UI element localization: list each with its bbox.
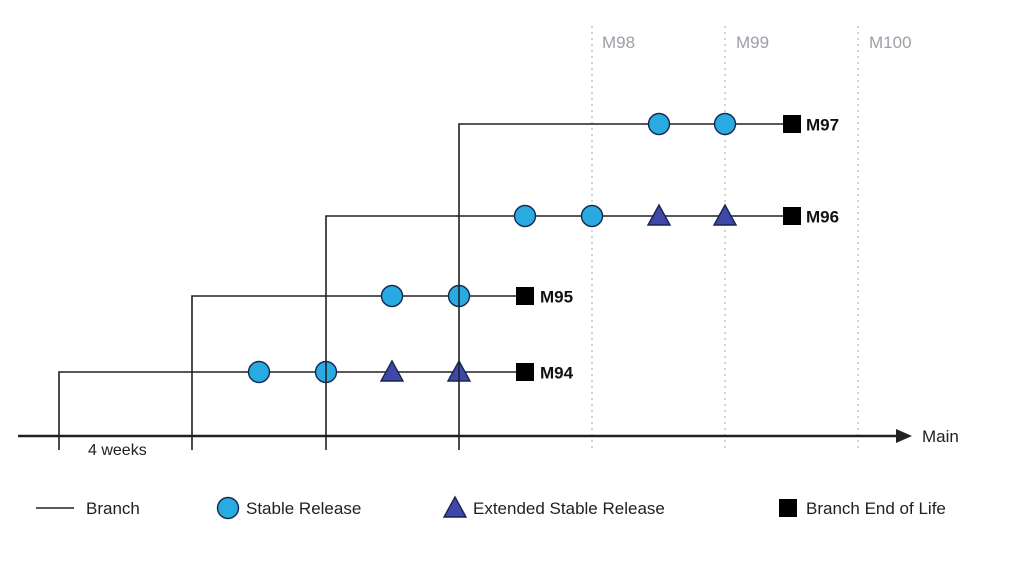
extended-stable-release-marker[interactable] — [381, 361, 403, 381]
legend-item[interactable]: Stable Release — [218, 498, 362, 519]
branch-label: M96 — [806, 208, 839, 227]
branch-end-of-life-marker[interactable] — [516, 363, 534, 381]
milestone-future-label: M99 — [736, 33, 769, 52]
branch-label: M97 — [806, 116, 839, 135]
extended-stable-release-marker[interactable] — [714, 205, 736, 225]
branch-end-of-life-marker[interactable] — [516, 287, 534, 305]
future-milestone-guides: M98M99M100 — [592, 26, 912, 452]
extended-stable-release-marker[interactable] — [648, 205, 670, 225]
square-icon[interactable] — [779, 499, 797, 517]
branch-line — [192, 296, 525, 450]
legend-label: Extended Stable Release — [473, 499, 665, 518]
milestone-future-label: M100 — [869, 33, 912, 52]
stable-release-marker[interactable] — [382, 286, 403, 307]
triangle-icon[interactable] — [444, 497, 466, 517]
interval-annotation-label: 4 weeks — [88, 442, 147, 459]
milestone-future-label: M98 — [602, 33, 635, 52]
stable-release-marker[interactable] — [249, 362, 270, 383]
circle-icon[interactable] — [218, 498, 239, 519]
axis-arrow-icon — [896, 429, 912, 443]
main-axis: Main4 weeks — [18, 427, 959, 459]
branch-label: M94 — [540, 364, 574, 383]
legend-label: Branch End of Life — [806, 499, 946, 518]
legend-item[interactable]: Branch End of Life — [779, 499, 946, 518]
branch-rows: M94M95M96M97 — [59, 114, 839, 451]
stable-release-marker[interactable] — [582, 206, 603, 227]
branch-line — [459, 124, 792, 450]
legend: BranchStable ReleaseExtended Stable Rele… — [36, 497, 946, 519]
branch-row: M96 — [326, 205, 839, 450]
timeline-svg: M98M99M100 M94M95M96M97 Main4 weeks Bran… — [0, 0, 1024, 570]
stable-release-marker[interactable] — [649, 114, 670, 135]
main-axis-label: Main — [922, 427, 959, 446]
branch-end-of-life-marker[interactable] — [783, 115, 801, 133]
stable-release-marker[interactable] — [715, 114, 736, 135]
legend-item[interactable]: Branch — [36, 499, 140, 518]
legend-label: Branch — [86, 499, 140, 518]
branch-label: M95 — [540, 288, 573, 307]
stable-release-marker[interactable] — [515, 206, 536, 227]
release-timeline-diagram: M98M99M100 M94M95M96M97 Main4 weeks Bran… — [0, 0, 1024, 570]
branch-end-of-life-marker[interactable] — [783, 207, 801, 225]
legend-label: Stable Release — [246, 499, 361, 518]
branch-line — [326, 216, 792, 450]
legend-item[interactable]: Extended Stable Release — [444, 497, 665, 518]
branch-row: M97 — [459, 114, 839, 451]
branch-line — [59, 372, 525, 450]
